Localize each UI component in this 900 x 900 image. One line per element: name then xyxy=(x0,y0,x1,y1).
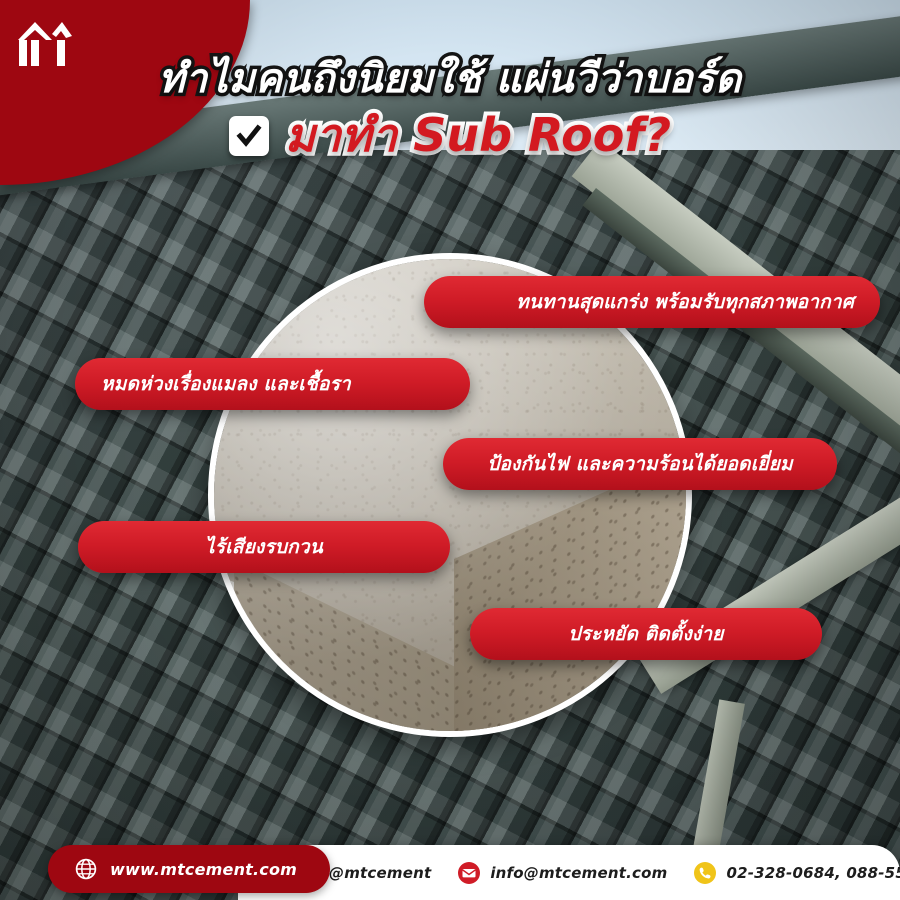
feature-pill-durability: ทนทานสุดแกร่ง พร้อมรับทุกสภาพอากาศ xyxy=(424,276,880,328)
phone-icon xyxy=(693,861,717,885)
footer-phone-item[interactable]: 02-328-0684, 088-554-1555 xyxy=(693,861,900,885)
feature-pill-economy: ประหยัด ติดตั้งง่าย xyxy=(470,608,822,660)
footer-phone: 02-328-0684, 088-554-1555 xyxy=(726,864,900,882)
envelope-icon xyxy=(457,861,481,885)
footer-line-id: @mtcement xyxy=(329,864,431,882)
globe-icon xyxy=(74,857,98,881)
poster-canvas: ทำไมคนถึงนิยมใช้ แผ่นวีว่าบอร์ด มาทำ Sub… xyxy=(0,0,900,900)
footer-website-badge[interactable]: www.mtcement.com xyxy=(48,845,330,893)
circle-sheen-overlay xyxy=(214,259,686,731)
footer-email: info@mtcement.com xyxy=(490,864,667,882)
footer-white-panel: LINE @mtcement info@mtcement.com 02-328-… xyxy=(238,845,900,900)
feature-pill-fire-heat: ป้องกันไฟ และความร้อนได้ยอดเยี่ยม xyxy=(443,438,837,490)
feature-pill-noise: ไร้เสียงรบกวน xyxy=(78,521,450,573)
footer-website: www.mtcement.com xyxy=(110,860,297,879)
footer-email-item[interactable]: info@mtcement.com xyxy=(457,861,667,885)
house-roof-logo-icon xyxy=(16,18,80,70)
feature-pill-pest-mold: หมดห่วงเรื่องแมลง และเชื้อรา xyxy=(75,358,470,410)
footer-contact-bar: LINE @mtcement info@mtcement.com 02-328-… xyxy=(0,836,900,900)
